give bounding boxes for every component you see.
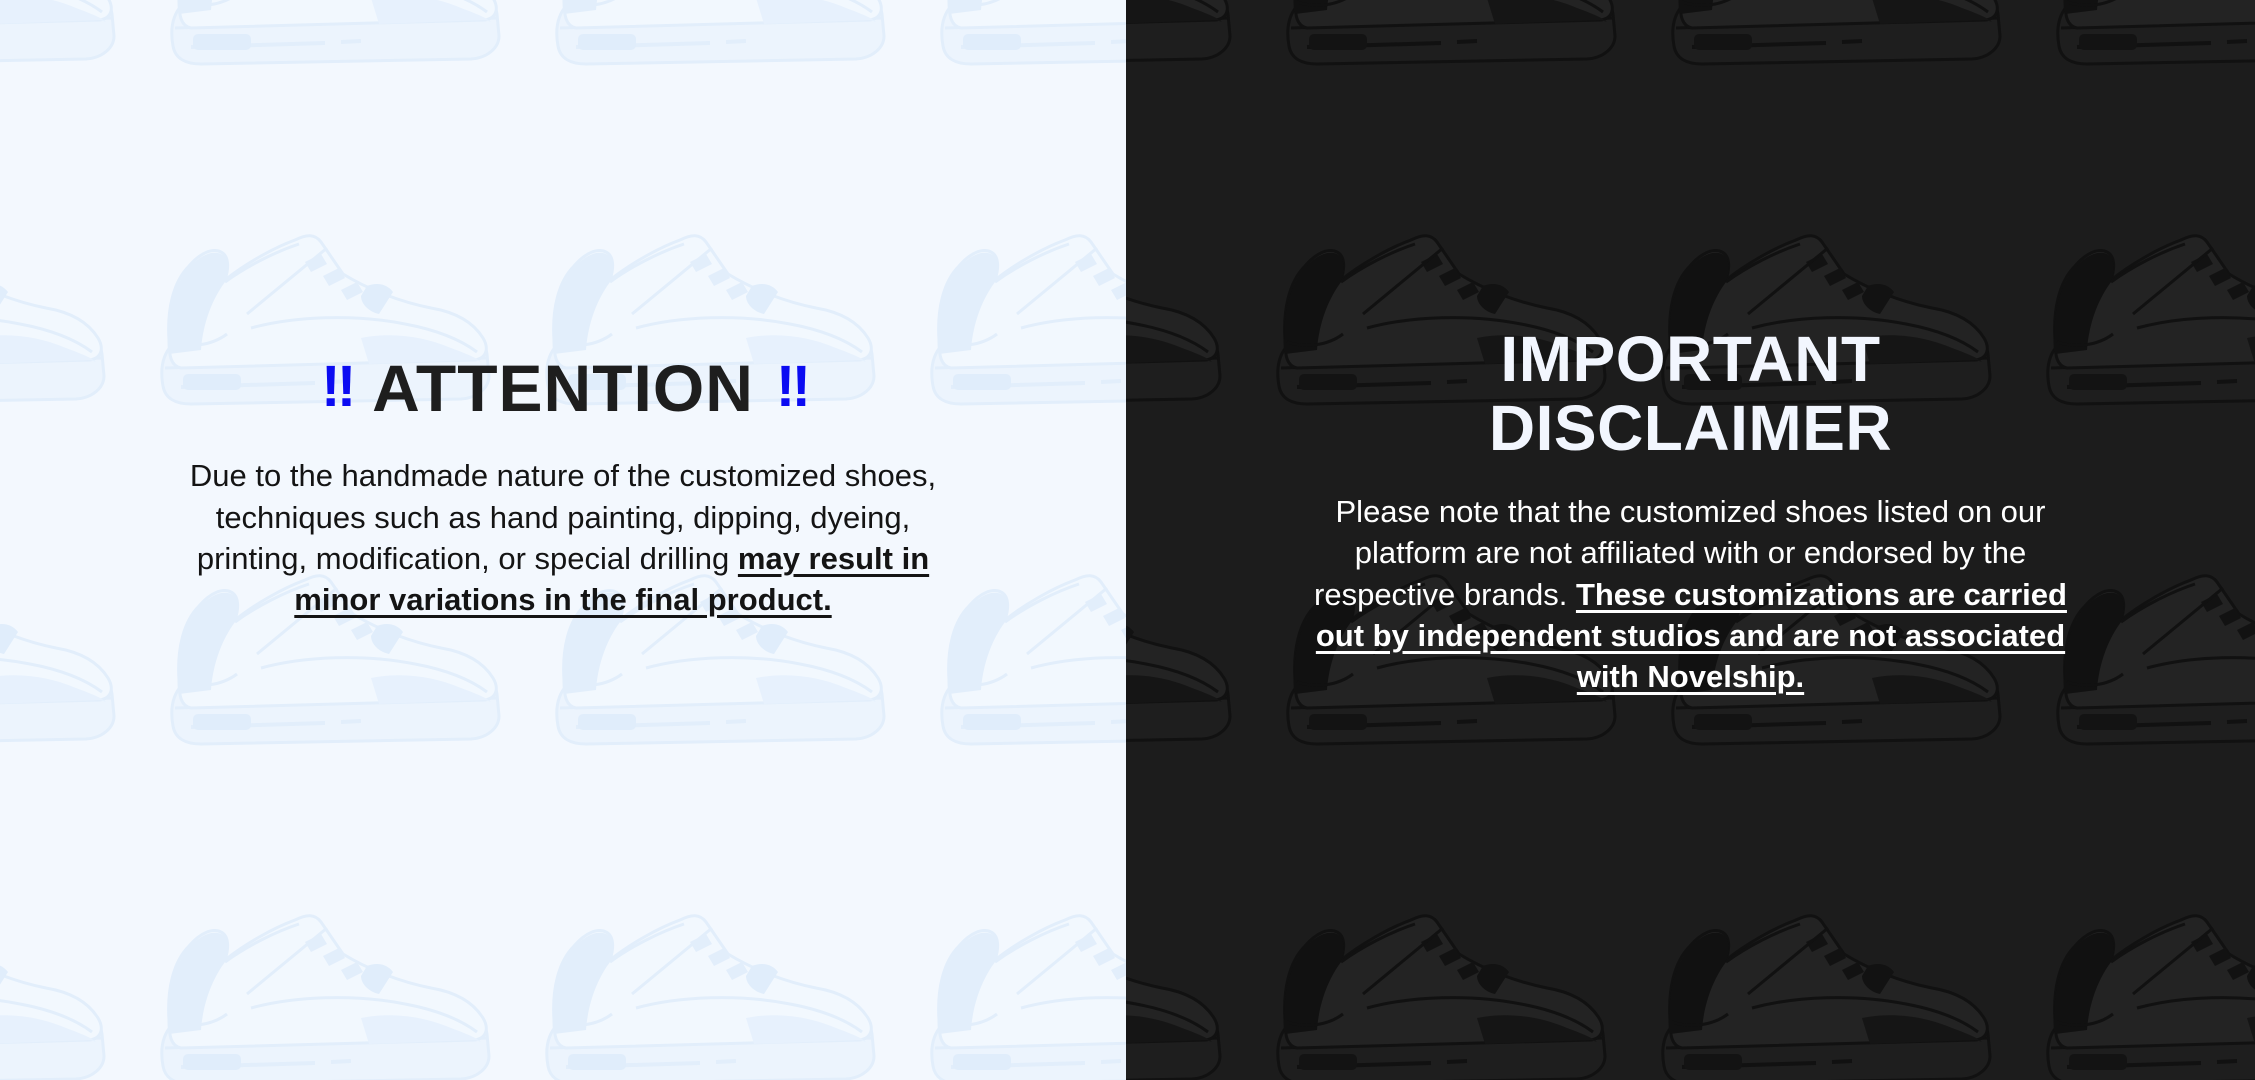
attention-content: ‼ ATTENTION ‼ Due to the handmade nature… <box>0 0 1126 620</box>
attention-panel: ‼ ATTENTION ‼ Due to the handmade nature… <box>0 0 1126 1080</box>
double-exclamation-icon-left: ‼ <box>321 358 350 416</box>
disclaimer-heading-line2: DISCLAIMER <box>1489 392 1892 464</box>
attention-heading-text: ATTENTION <box>372 355 754 422</box>
attention-disclaimer-banner: ‼ ATTENTION ‼ Due to the handmade nature… <box>0 0 2255 1080</box>
disclaimer-content: IMPORTANT DISCLAIMER Please note that th… <box>1126 0 2255 697</box>
attention-heading: ‼ ATTENTION ‼ <box>321 355 805 422</box>
double-exclamation-icon-right: ‼ <box>776 358 805 416</box>
disclaimer-heading: IMPORTANT DISCLAIMER <box>1489 325 1892 463</box>
attention-body: Due to the handmade nature of the custom… <box>163 455 963 620</box>
disclaimer-body: Please note that the customized shoes li… <box>1296 491 2086 697</box>
disclaimer-panel: IMPORTANT DISCLAIMER Please note that th… <box>1126 0 2255 1080</box>
disclaimer-heading-line1: IMPORTANT <box>1500 323 1880 395</box>
